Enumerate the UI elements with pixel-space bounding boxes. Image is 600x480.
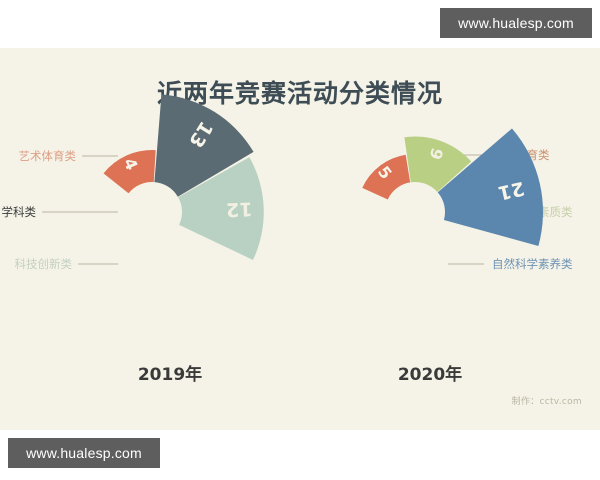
- legend-label[interactable]: 科技创新类: [15, 257, 73, 271]
- legend-label[interactable]: 自然科学素养类: [492, 257, 573, 271]
- legend-label[interactable]: 艺术体育类: [19, 149, 77, 163]
- credit-text: 制作：cctv.com: [512, 394, 582, 407]
- pie-slice[interactable]: [438, 128, 543, 246]
- watermark-top-right: www.hualesp.com: [440, 8, 592, 38]
- slice-value-label: 12: [226, 198, 253, 221]
- screenshot-root: www.hualesp.com 近两年竞赛活动分类情况 4艺术体育类13学科类1…: [0, 0, 600, 480]
- year-label-2020: 2020年: [370, 360, 490, 385]
- rose-chart-svg: 4艺术体育类13学科类12科技创新类5艺术体育类9人文综合素质类21自然科学素养…: [0, 48, 600, 430]
- legend-label[interactable]: 学科类: [2, 205, 37, 219]
- year-label-2019: 2019年: [110, 360, 230, 385]
- watermark-bottom-left: www.hualesp.com: [8, 438, 160, 468]
